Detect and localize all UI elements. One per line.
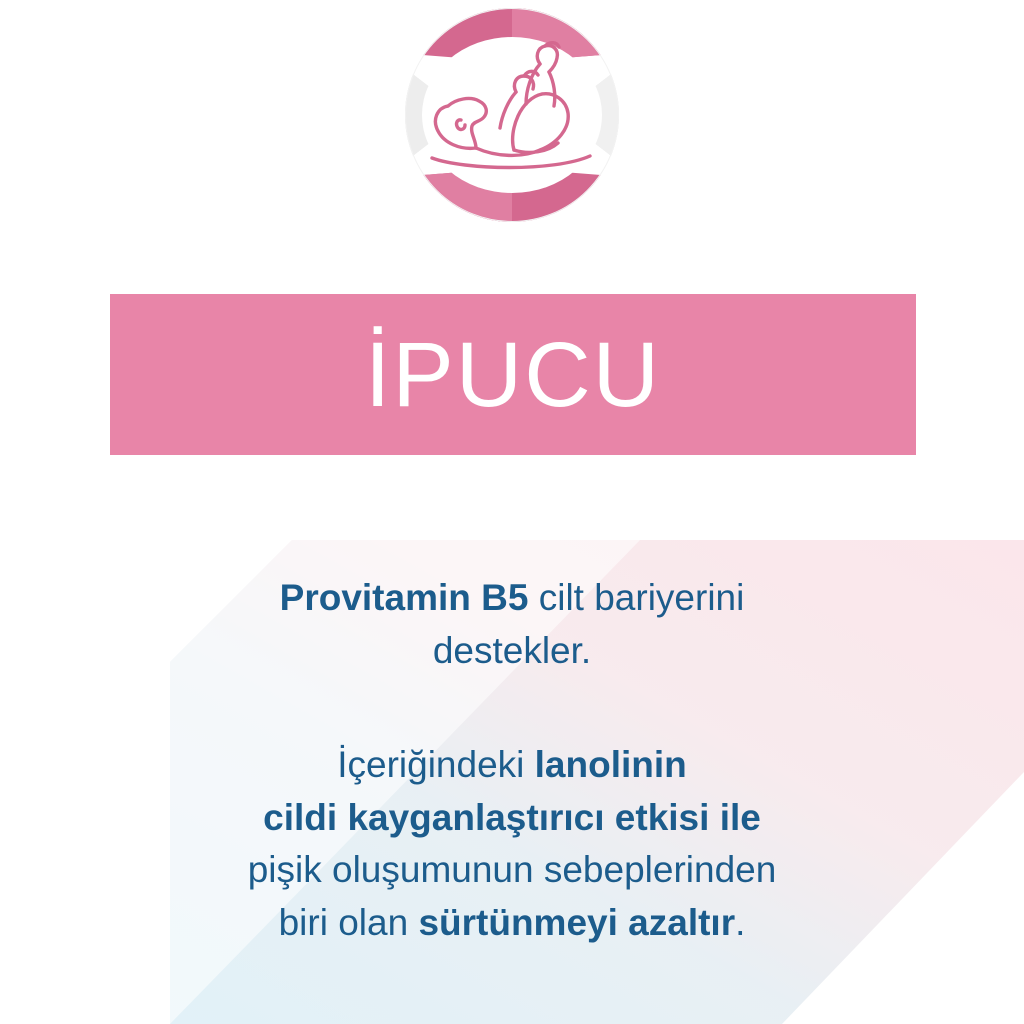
copy-line-4-bold: cildi kayganlaştırıcı etkisi ile [263, 797, 761, 838]
copy-line-5: pişik oluşumunun sebeplerinden [112, 844, 912, 897]
paragraph-2: İçeriğindeki lanolinin cildi kayganlaştı… [112, 739, 912, 949]
copy-line-3-bold: lanolinin [535, 744, 687, 785]
copy-line-3-reg: İçeriğindeki [337, 744, 534, 785]
body-copy: Provitamin B5 cilt bariyerini destekler.… [112, 572, 912, 949]
tip-banner: İPUCU [110, 294, 916, 455]
copy-line-1-bold: Provitamin B5 [280, 577, 529, 618]
promo-card: İPUCU Provitamin B5 cilt bariyerini dest… [0, 0, 1024, 1024]
banner-title: İPUCU [365, 329, 661, 421]
paragraph-spacer [112, 677, 912, 739]
copy-line-1: Provitamin B5 cilt bariyerini [112, 572, 912, 625]
copy-line-6-tail: . [735, 902, 745, 943]
baby-logo [404, 0, 620, 230]
copy-line-6: biri olan sürtünmeyi azaltır. [112, 897, 912, 950]
copy-line-2: destekler. [112, 625, 912, 678]
copy-line-4: cildi kayganlaştırıcı etkisi ile [112, 792, 912, 845]
copy-line-6-reg: biri olan [279, 902, 419, 943]
paragraph-1: Provitamin B5 cilt bariyerini destekler. [112, 572, 912, 677]
copy-line-1-rest: cilt bariyerini [528, 577, 744, 618]
copy-line-3: İçeriğindeki lanolinin [112, 739, 912, 792]
copy-line-6-bold: sürtünmeyi azaltır [418, 902, 735, 943]
